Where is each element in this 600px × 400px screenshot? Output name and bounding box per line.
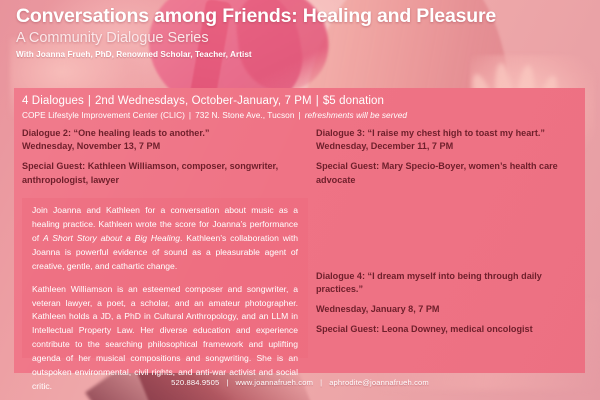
body-text-box: Join Joanna and Kathleen for a conversat… (22, 198, 308, 358)
separator: | (219, 378, 235, 387)
dialogue-count: 4 Dialogues (22, 95, 84, 107)
dialogue-2-entry: Dialogue 2: “One healing leads to anothe… (22, 127, 308, 187)
left-column: Dialogue 2: “One healing leads to anothe… (22, 127, 308, 187)
dialogue-3-guest: Special Guest: Mary Specio-Boyer, women’… (316, 160, 584, 186)
info-bar: 4 Dialogues|2nd Wednesdays, October-Janu… (22, 95, 578, 120)
dialogue-3-entry: Dialogue 3: “I raise my chest high to to… (316, 127, 584, 187)
title-block: Conversations among Friends: Healing and… (16, 6, 536, 59)
dialogue-4-guest: Special Guest: Leona Downey, medical onc… (316, 323, 584, 336)
separator: | (313, 378, 329, 387)
body-p1-work-title: A Short Story about a Big Healing (43, 233, 180, 243)
dialogue-4-date: Wednesday, January 8, 7 PM (316, 303, 584, 316)
body-paragraph-1: Join Joanna and Kathleen for a conversat… (32, 204, 298, 274)
separator: | (312, 95, 323, 107)
dialogue-4-entry: Dialogue 4: “I dream myself into being t… (316, 270, 584, 337)
page-subtitle: A Community Dialogue Series (16, 29, 536, 47)
info-bar-secondary: COPE Lifestyle Improvement Center (CLIC)… (22, 110, 578, 120)
separator: | (185, 110, 195, 120)
dialogue-3-title: Dialogue 3: “I raise my chest high to to… (316, 127, 584, 140)
dialogue-2-title: Dialogue 2: “One healing leads to anothe… (22, 127, 308, 140)
price: $5 donation (323, 95, 384, 107)
venue-name: COPE Lifestyle Improvement Center (CLIC) (22, 110, 185, 120)
footer-phone: 520.884.9505 (171, 378, 219, 387)
separator: | (294, 110, 304, 120)
right-column: Dialogue 3: “I raise my chest high to to… (316, 127, 584, 336)
venue-address: 732 N. Stone Ave., Tucson (195, 110, 294, 120)
footer-contact: 520.884.9505|www.joannafrueh.com|aphrodi… (0, 378, 600, 387)
page-byline: With Joanna Frueh, PhD, Renowned Scholar… (16, 50, 536, 59)
dialogue-3-date: Wednesday, December 11, 7 PM (316, 140, 584, 153)
dialogue-2-guest: Special Guest: Kathleen Williamson, comp… (22, 160, 308, 186)
poster-canvas: Conversations among Friends: Healing and… (0, 0, 600, 400)
refreshments-note: refreshments will be served (305, 110, 407, 120)
page-title: Conversations among Friends: Healing and… (16, 6, 536, 28)
content-panel: 4 Dialogues|2nd Wednesdays, October-Janu… (14, 88, 585, 373)
footer-email[interactable]: aphrodite@joannafrueh.com (329, 378, 429, 387)
schedule: 2nd Wednesdays, October-January, 7 PM (95, 95, 312, 107)
dialogue-4-title: Dialogue 4: “I dream myself into being t… (316, 270, 584, 296)
dialogue-2-date: Wednesday, November 13, 7 PM (22, 140, 308, 153)
info-bar-primary: 4 Dialogues|2nd Wednesdays, October-Janu… (22, 95, 578, 107)
footer-website[interactable]: www.joannafrueh.com (236, 378, 314, 387)
separator: | (84, 95, 95, 107)
body-text: Join Joanna and Kathleen for a conversat… (32, 204, 298, 400)
